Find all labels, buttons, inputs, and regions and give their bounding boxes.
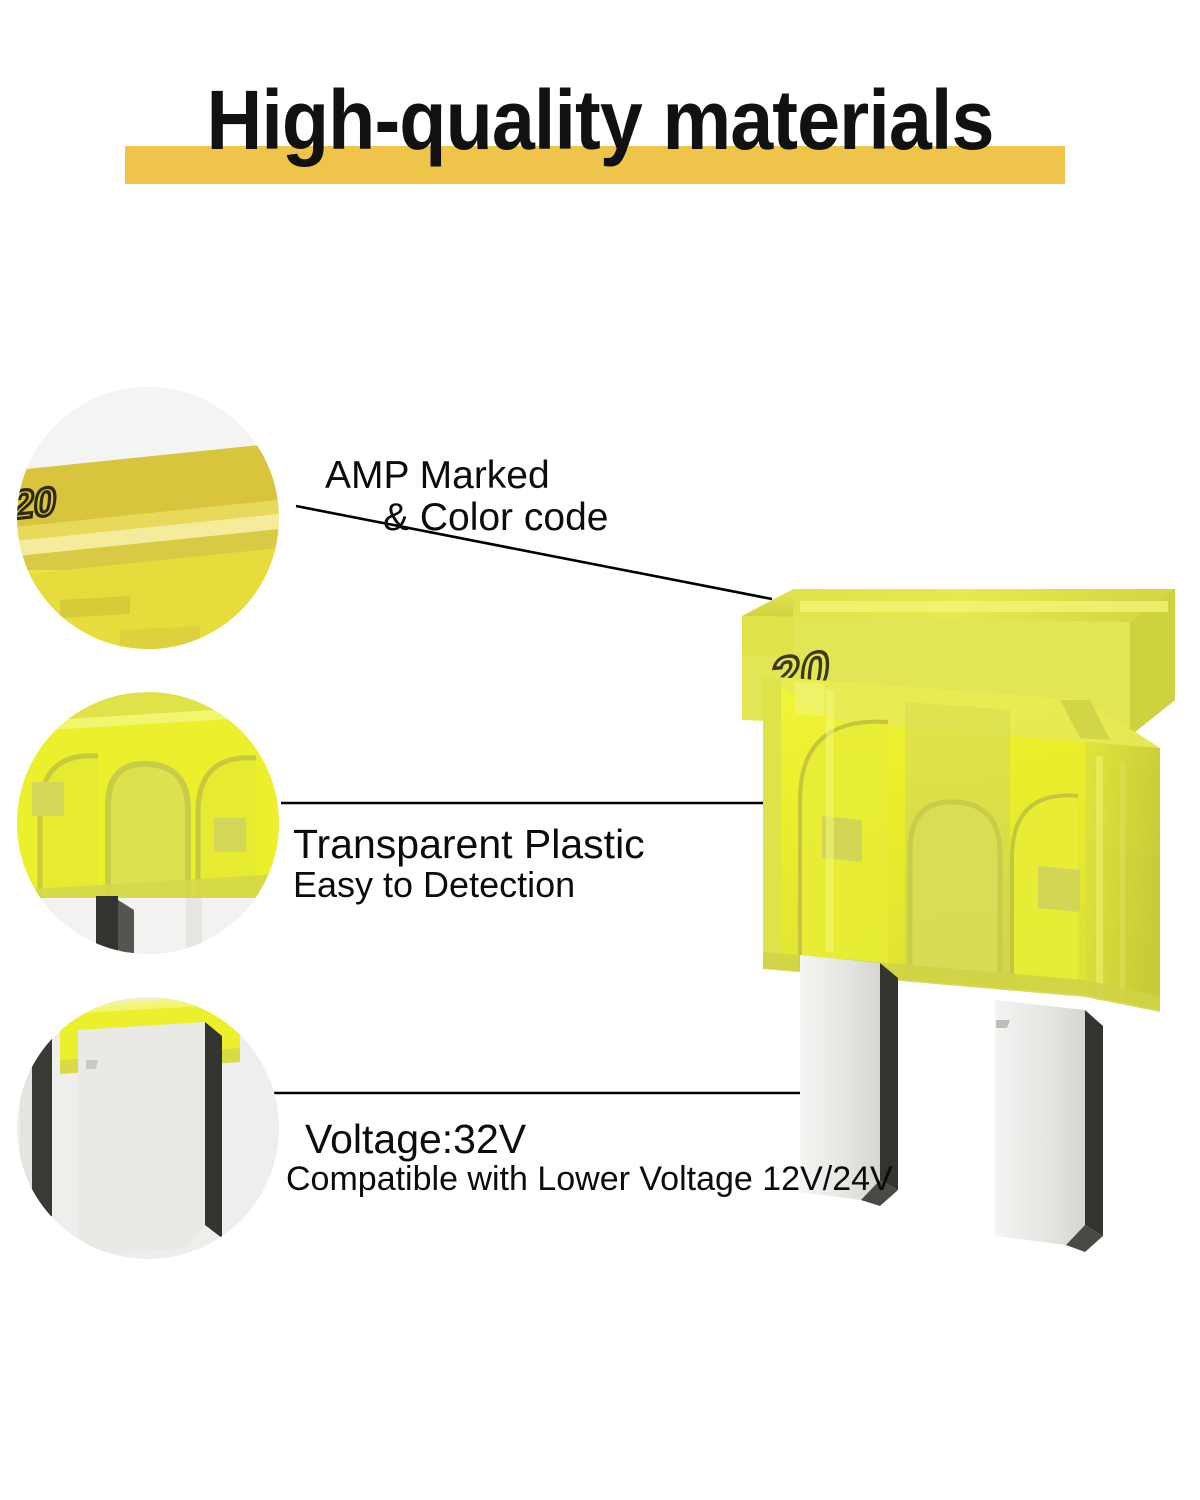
callout-zoom-amp-text: 20 [10,477,59,528]
callout-text-voltage: Voltage:32V Compatible with Lower Voltag… [305,1117,893,1198]
fuse-blade-right-edge [1085,1010,1103,1236]
fuse-blade-right [995,1000,1085,1245]
fuse-top-highlight [800,601,1168,612]
illustration-svg: 20 [0,0,1200,1500]
callout-text-amp-marked: AMP Marked & Color code [325,455,608,539]
callout-line-1: Voltage:32V [305,1117,893,1161]
fuse-window-right [1038,866,1080,912]
callout-line-1: Transparent Plastic [293,822,645,866]
callout-text-transparent-plastic: Transparent Plastic Easy to Detection [293,822,645,905]
callout-circle-transparent-plastic [17,684,279,960]
fuse-body-left-rim [763,676,781,970]
callout-circle-voltage [17,994,279,1259]
fuse-arch-center [910,802,1000,975]
callout-line-1: AMP Marked [325,455,608,497]
infographic-canvas: High-quality materials [0,0,1200,1500]
callout-circle-amp-marked: 20 [10,387,279,660]
callout-line-2: & Color code [383,497,608,539]
callout-line-2: Compatible with Lower Voltage 12V/24V [286,1161,893,1198]
callout-line-2: Easy to Detection [293,866,645,905]
